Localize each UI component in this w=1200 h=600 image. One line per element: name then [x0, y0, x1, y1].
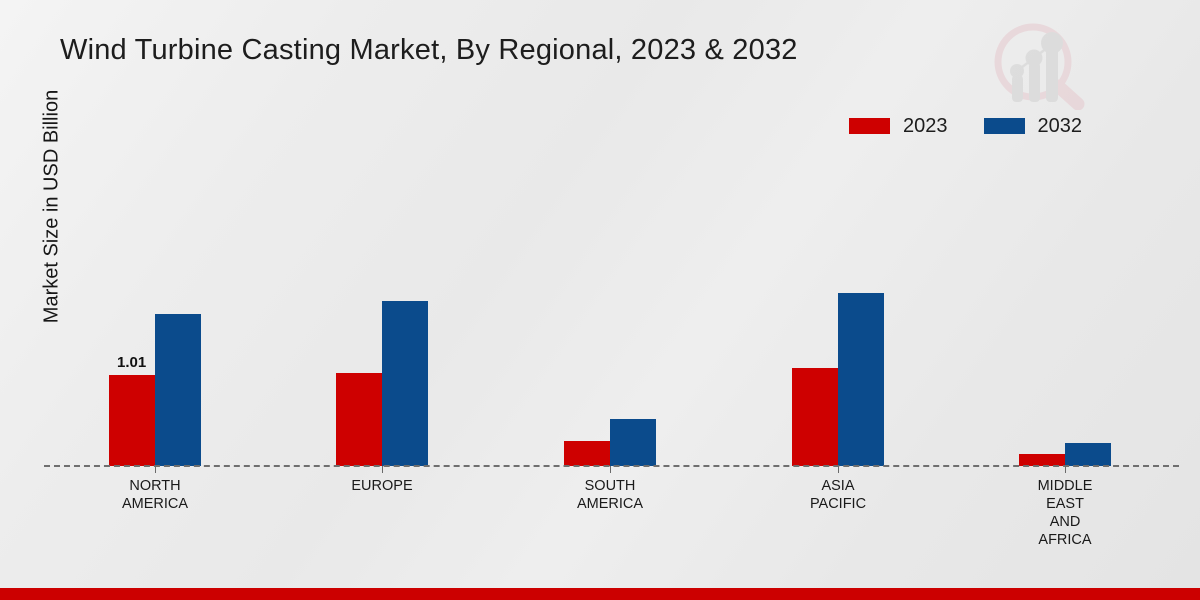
- x-axis-tick: [155, 466, 156, 473]
- bar-group: 1.01: [109, 120, 201, 466]
- watermark-logo: [986, 18, 1090, 110]
- bar-2032-north-america[interactable]: [155, 314, 201, 466]
- x-axis-label-north-america: NORTHAMERICA: [75, 477, 235, 513]
- bar-group: [336, 120, 428, 466]
- x-axis-label-middle-east-and-africa: MIDDLEEASTANDAFRICA: [985, 477, 1145, 549]
- bars: [1019, 120, 1111, 466]
- x-axis-tick: [1065, 466, 1066, 473]
- x-axis-label-europe: EUROPE: [302, 477, 462, 495]
- plot-area: 1.01: [44, 120, 1179, 466]
- bars: [336, 120, 428, 466]
- chart-title: Wind Turbine Casting Market, By Regional…: [60, 34, 798, 67]
- bar-2023-asia-pacific[interactable]: [792, 368, 838, 466]
- x-axis-label-asia-pacific: ASIAPACIFIC: [758, 477, 918, 513]
- bar-2032-europe[interactable]: [382, 301, 428, 466]
- bars: [792, 120, 884, 466]
- bar-group: [792, 120, 884, 466]
- bar-2032-middle-east-and-africa[interactable]: [1065, 443, 1111, 466]
- chart-canvas: Wind Turbine Casting Market, By Regional…: [0, 0, 1200, 600]
- bar-2032-asia-pacific[interactable]: [838, 293, 884, 466]
- bar-2023-south-america[interactable]: [564, 441, 610, 466]
- bar-2023-north-america[interactable]: [109, 375, 155, 466]
- bar-2032-south-america[interactable]: [610, 419, 656, 466]
- bars: [109, 120, 201, 466]
- x-axis-baseline: [44, 465, 1179, 467]
- x-axis-label-south-america: SOUTHAMERICA: [530, 477, 690, 513]
- x-axis-tick: [838, 466, 839, 473]
- bar-group: [1019, 120, 1111, 466]
- x-axis-tick: [382, 466, 383, 473]
- bars: [564, 120, 656, 466]
- x-axis-tick: [610, 466, 611, 473]
- bar-2023-europe[interactable]: [336, 373, 382, 466]
- bar-group: [564, 120, 656, 466]
- magnifier-bar-chart-icon: [986, 18, 1090, 110]
- footer-accent-bar: [0, 588, 1200, 600]
